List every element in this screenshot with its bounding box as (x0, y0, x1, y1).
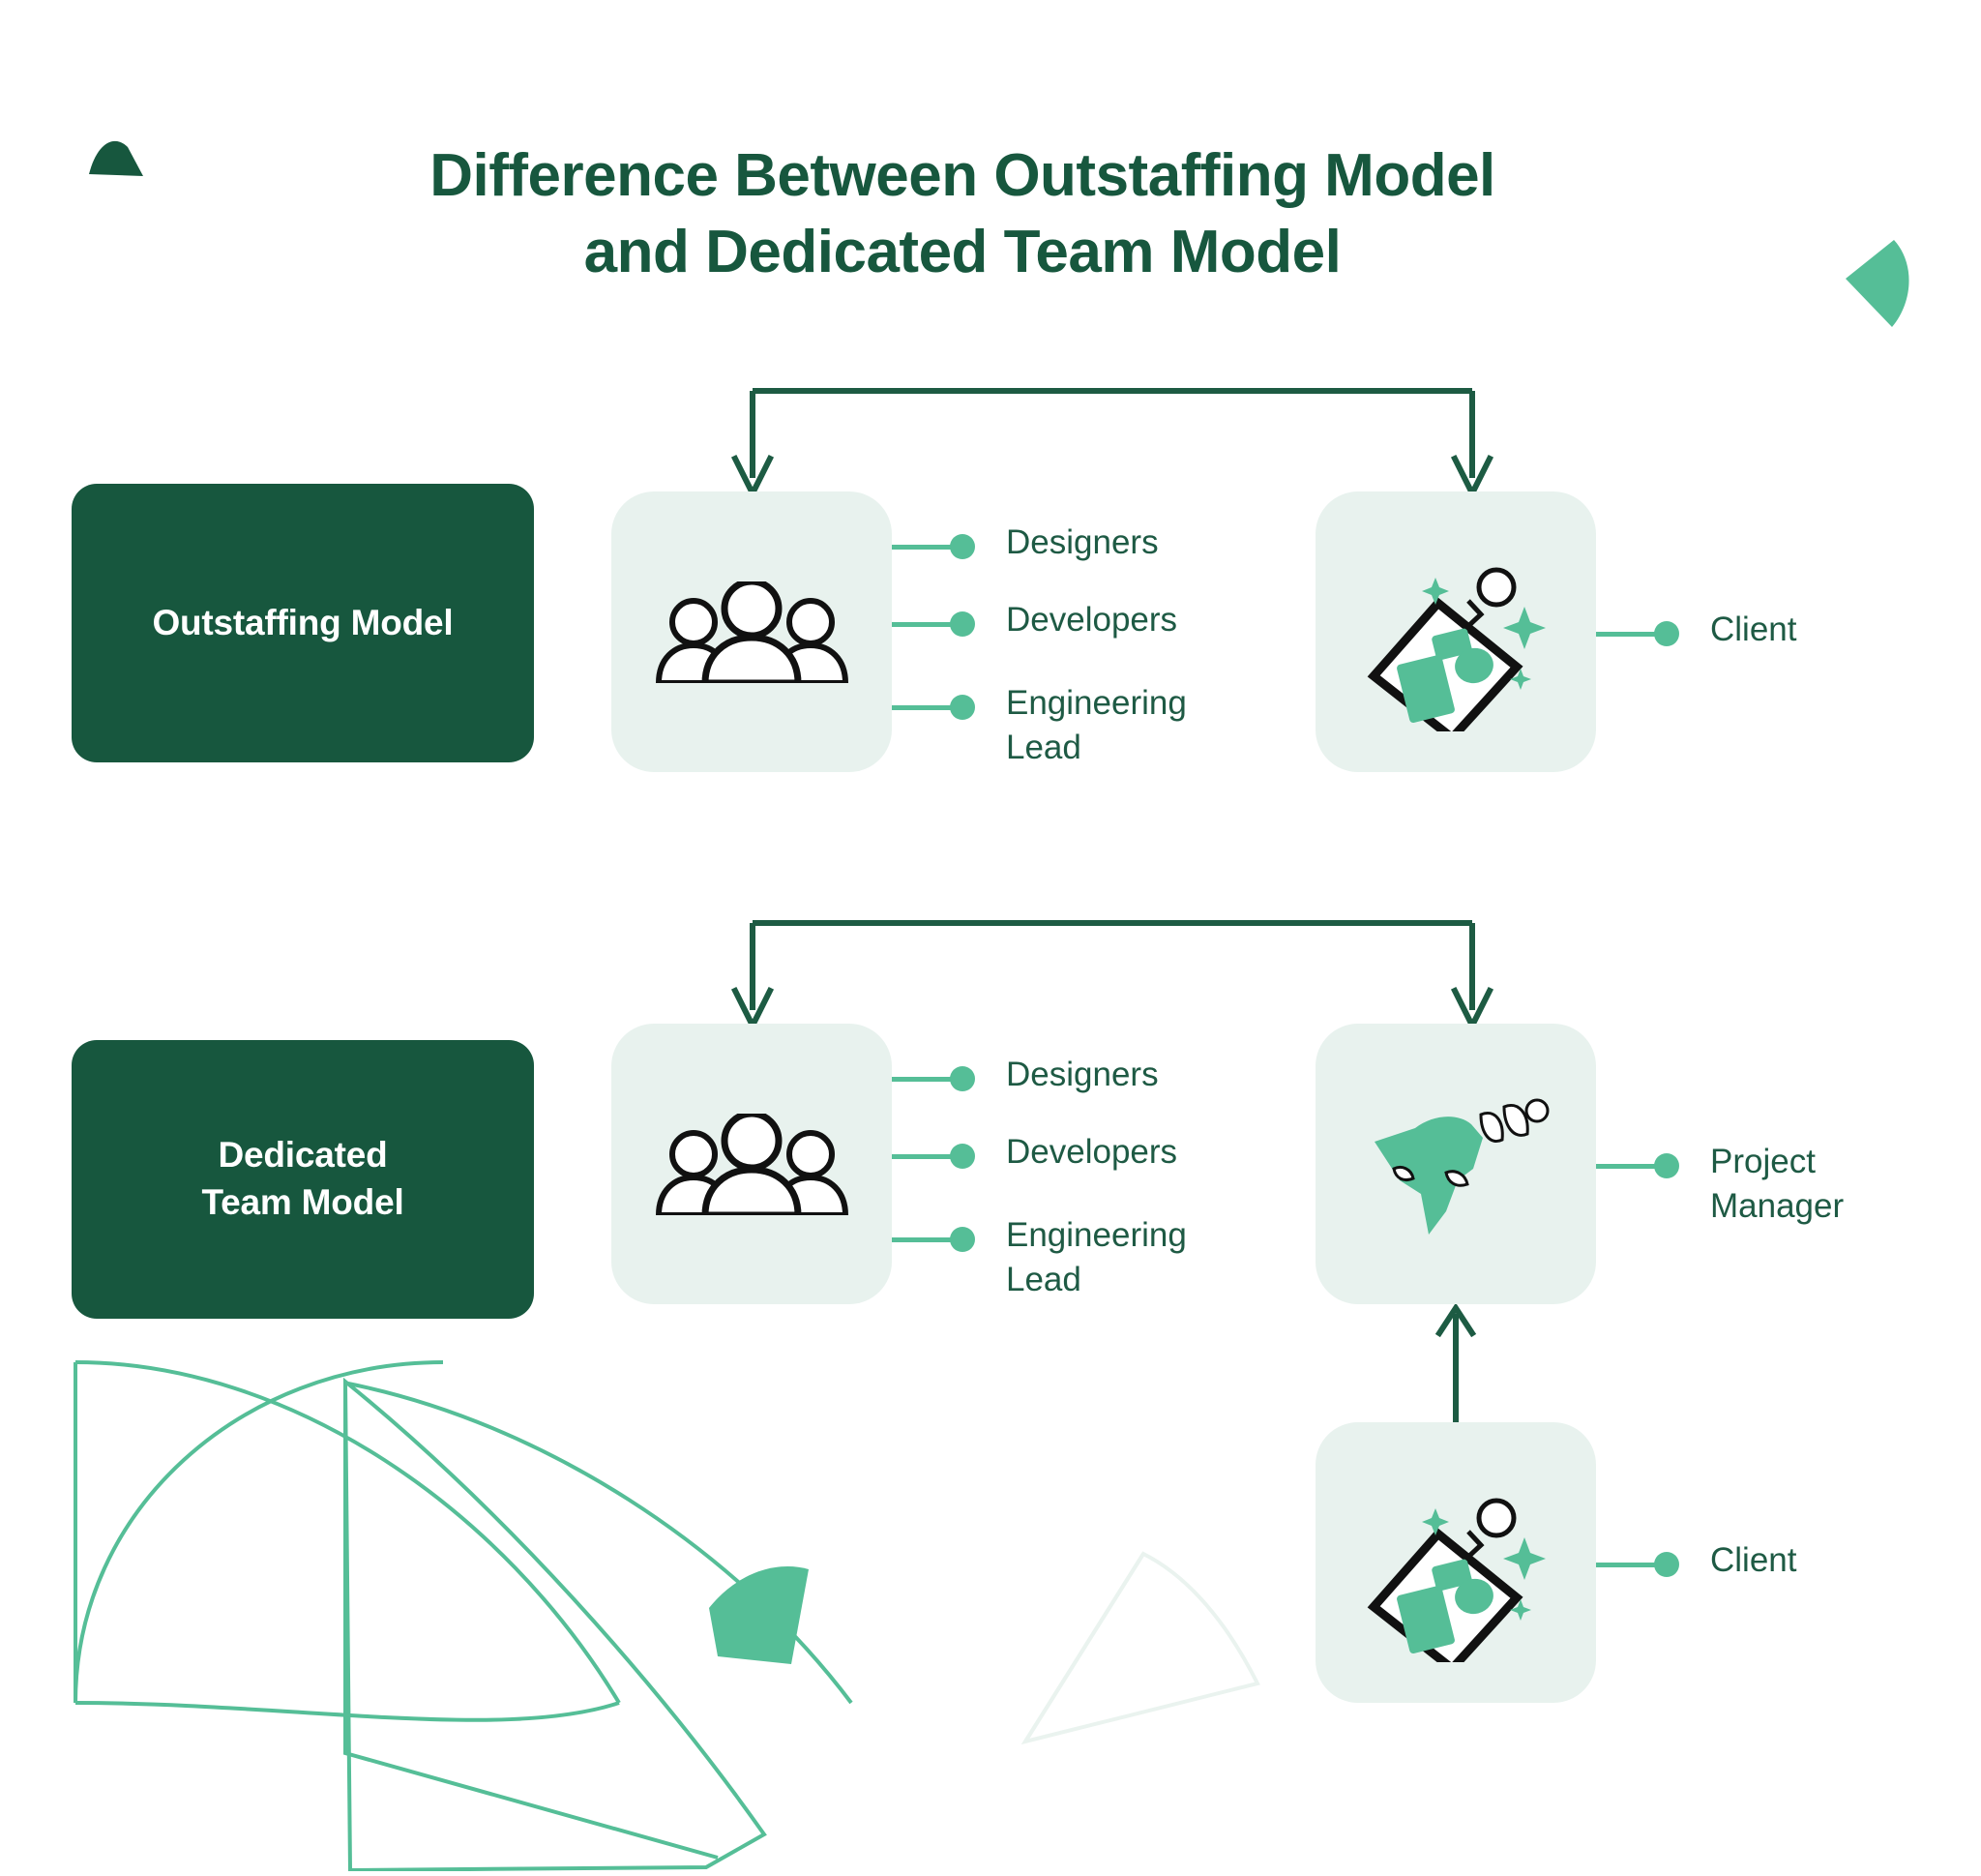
connector-line (892, 1237, 952, 1242)
connector-line (892, 545, 952, 550)
connector-line (892, 1077, 952, 1082)
connector-line (1596, 1164, 1656, 1169)
connector-dot (950, 1066, 975, 1091)
connector-line (892, 622, 952, 627)
model-box-outstaffing-label: Outstaffing Model (152, 600, 453, 647)
connector-line (892, 705, 952, 710)
deco-wedge-top-right (1846, 240, 1909, 327)
role-label-developers: Developers (1006, 598, 1177, 642)
model-box-dedicated-label-2: Team Model (201, 1179, 403, 1227)
deco-fan-outline-2d (75, 1703, 619, 1720)
model-box-outstaffing[interactable]: Outstaffing Model (72, 484, 534, 762)
client-label: Client (1710, 608, 1796, 652)
connector-line (1596, 632, 1656, 637)
connector-dot (1654, 1153, 1679, 1178)
client-card-outstaffing[interactable] (1316, 491, 1596, 772)
connector-dot (950, 611, 975, 637)
client-card-dedicated[interactable] (1316, 1422, 1596, 1703)
connector-dot (1654, 1552, 1679, 1577)
client-to-pm-arrow (1434, 1304, 1478, 1424)
page-title-line-2: and Dedicated Team Model (368, 214, 1557, 290)
connector-dot (950, 695, 975, 720)
section-outstaffing-model: Outstaffing Model Designers Developers E… (0, 368, 1981, 822)
page-title: Difference Between Outstaffing Model and… (368, 137, 1557, 291)
three-people-icon (653, 581, 851, 683)
connector-line (1596, 1563, 1656, 1567)
team-card-dedicated[interactable] (611, 1024, 892, 1304)
team-card-outstaffing[interactable] (611, 491, 892, 772)
model-box-dedicated[interactable]: Dedicated Team Model (72, 1040, 534, 1319)
project-manager-card[interactable] (1316, 1024, 1596, 1304)
connector-dot (950, 1144, 975, 1169)
role-label-engineering-lead: Engineering Lead (1006, 681, 1187, 770)
connector-dot (1654, 621, 1679, 646)
connector-dot (950, 1227, 975, 1252)
model-box-dedicated-label-1: Dedicated (201, 1132, 403, 1179)
megaphone-icon (1357, 1080, 1555, 1249)
section-dedicated-team-model: Dedicated Team Model Designers Developer… (0, 900, 1981, 1664)
role-label-engineering-lead: Engineering Lead (1006, 1213, 1187, 1302)
role-label-designers: Designers (1006, 521, 1159, 565)
client-label: Client (1710, 1538, 1796, 1583)
page-title-line-1: Difference Between Outstaffing Model (368, 137, 1557, 214)
pm-label: Project Manager (1710, 1140, 1844, 1229)
role-label-developers: Developers (1006, 1130, 1177, 1175)
connector-dot (950, 534, 975, 559)
client-badge-icon (1354, 533, 1557, 731)
deco-wedge-top-left (89, 141, 143, 176)
three-people-icon (653, 1114, 851, 1215)
connector-line (892, 1154, 952, 1159)
client-badge-icon (1354, 1464, 1557, 1662)
model-box-dedicated-labels: Dedicated Team Model (201, 1132, 403, 1227)
role-label-designers: Designers (1006, 1053, 1159, 1097)
